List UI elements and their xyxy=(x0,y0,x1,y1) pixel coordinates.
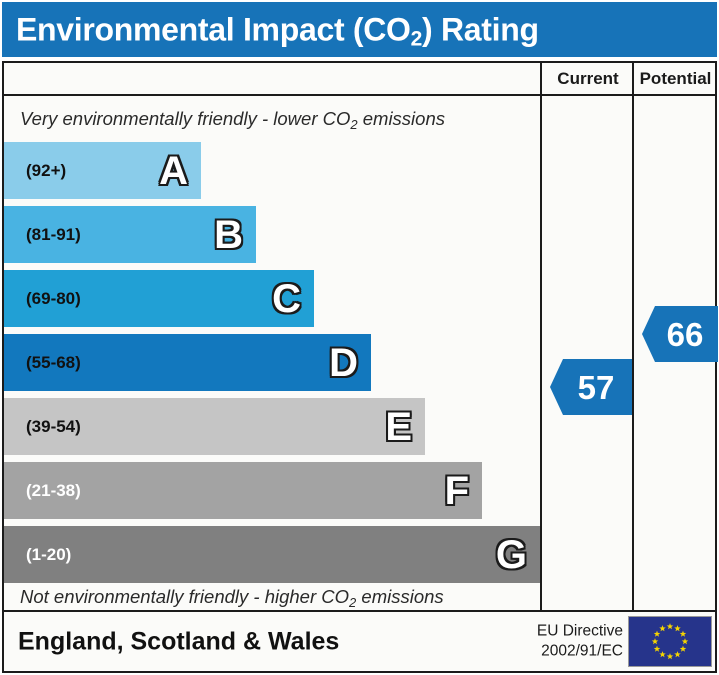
band-range-f: (21-38) xyxy=(26,481,81,501)
band-letter-a: A xyxy=(159,151,188,191)
band-g: (1-20)G xyxy=(4,526,540,583)
band-d: (55-68)D xyxy=(4,334,371,391)
epc-environmental-impact-chart: Environmental Impact (CO2) Rating Curren… xyxy=(0,0,719,675)
band-letter-g: G xyxy=(496,535,527,575)
caption-bottom-suffix: emissions xyxy=(356,586,443,607)
directive-line-2: 2002/91/EC xyxy=(541,643,623,660)
band-b: (81-91)B xyxy=(4,206,256,263)
eu-flag-icon xyxy=(628,616,712,667)
band-e: (39-54)E xyxy=(4,398,425,455)
footer-directive-label: EU Directive 2002/91/EC xyxy=(537,621,623,662)
band-f: (21-38)F xyxy=(4,462,482,519)
rating-marker-current: 57 xyxy=(550,359,632,415)
band-range-b: (81-91) xyxy=(26,225,81,245)
band-letter-d: D xyxy=(329,343,358,383)
rating-value-current: 57 xyxy=(568,371,615,404)
caption-not-friendly: Not environmentally friendly - higher CO… xyxy=(4,586,540,608)
band-range-d: (55-68) xyxy=(26,353,81,373)
caption-top-subscript: 2 xyxy=(350,117,357,132)
band-range-g: (1-20) xyxy=(26,545,71,565)
caption-bottom-subscript: 2 xyxy=(349,595,356,610)
ratings-table: Current Potential Very environmentally f… xyxy=(2,61,717,612)
rating-marker-potential: 66 xyxy=(642,306,718,362)
caption-top-prefix: Very environmentally friendly - lower CO xyxy=(20,108,350,129)
table-header-row: Current Potential xyxy=(4,63,715,96)
band-range-c: (69-80) xyxy=(26,289,81,309)
column-header-potential: Potential xyxy=(632,63,717,94)
eu-flag-stars-icon xyxy=(629,617,711,666)
column-header-current: Current xyxy=(540,63,634,94)
rating-value-potential: 66 xyxy=(657,318,704,351)
caption-bottom-prefix: Not environmentally friendly - higher CO xyxy=(20,586,349,607)
band-letter-b: B xyxy=(214,215,243,255)
chart-title-bar: Environmental Impact (CO2) Rating xyxy=(2,2,717,57)
caption-very-friendly: Very environmentally friendly - lower CO… xyxy=(4,108,540,130)
page-title: Environmental Impact (CO2) Rating xyxy=(16,11,539,48)
band-letter-e: E xyxy=(385,407,412,447)
band-a: (92+)A xyxy=(4,142,201,199)
page-title-prefix: Environmental Impact (CO xyxy=(16,11,411,47)
page-title-suffix: ) Rating xyxy=(422,11,539,47)
caption-top-suffix: emissions xyxy=(358,108,445,129)
directive-line-1: EU Directive xyxy=(537,622,623,639)
band-range-a: (92+) xyxy=(26,161,66,181)
page-title-subscript: 2 xyxy=(411,27,422,50)
band-c: (69-80)C xyxy=(4,270,314,327)
column-divider-potential xyxy=(632,96,634,610)
chart-footer: England, Scotland & Wales EU Directive 2… xyxy=(2,612,717,673)
band-letter-c: C xyxy=(272,279,301,319)
footer-region-label: England, Scotland & Wales xyxy=(18,627,339,656)
band-letter-f: F xyxy=(445,471,469,511)
band-range-e: (39-54) xyxy=(26,417,81,437)
column-divider-current xyxy=(540,96,542,610)
